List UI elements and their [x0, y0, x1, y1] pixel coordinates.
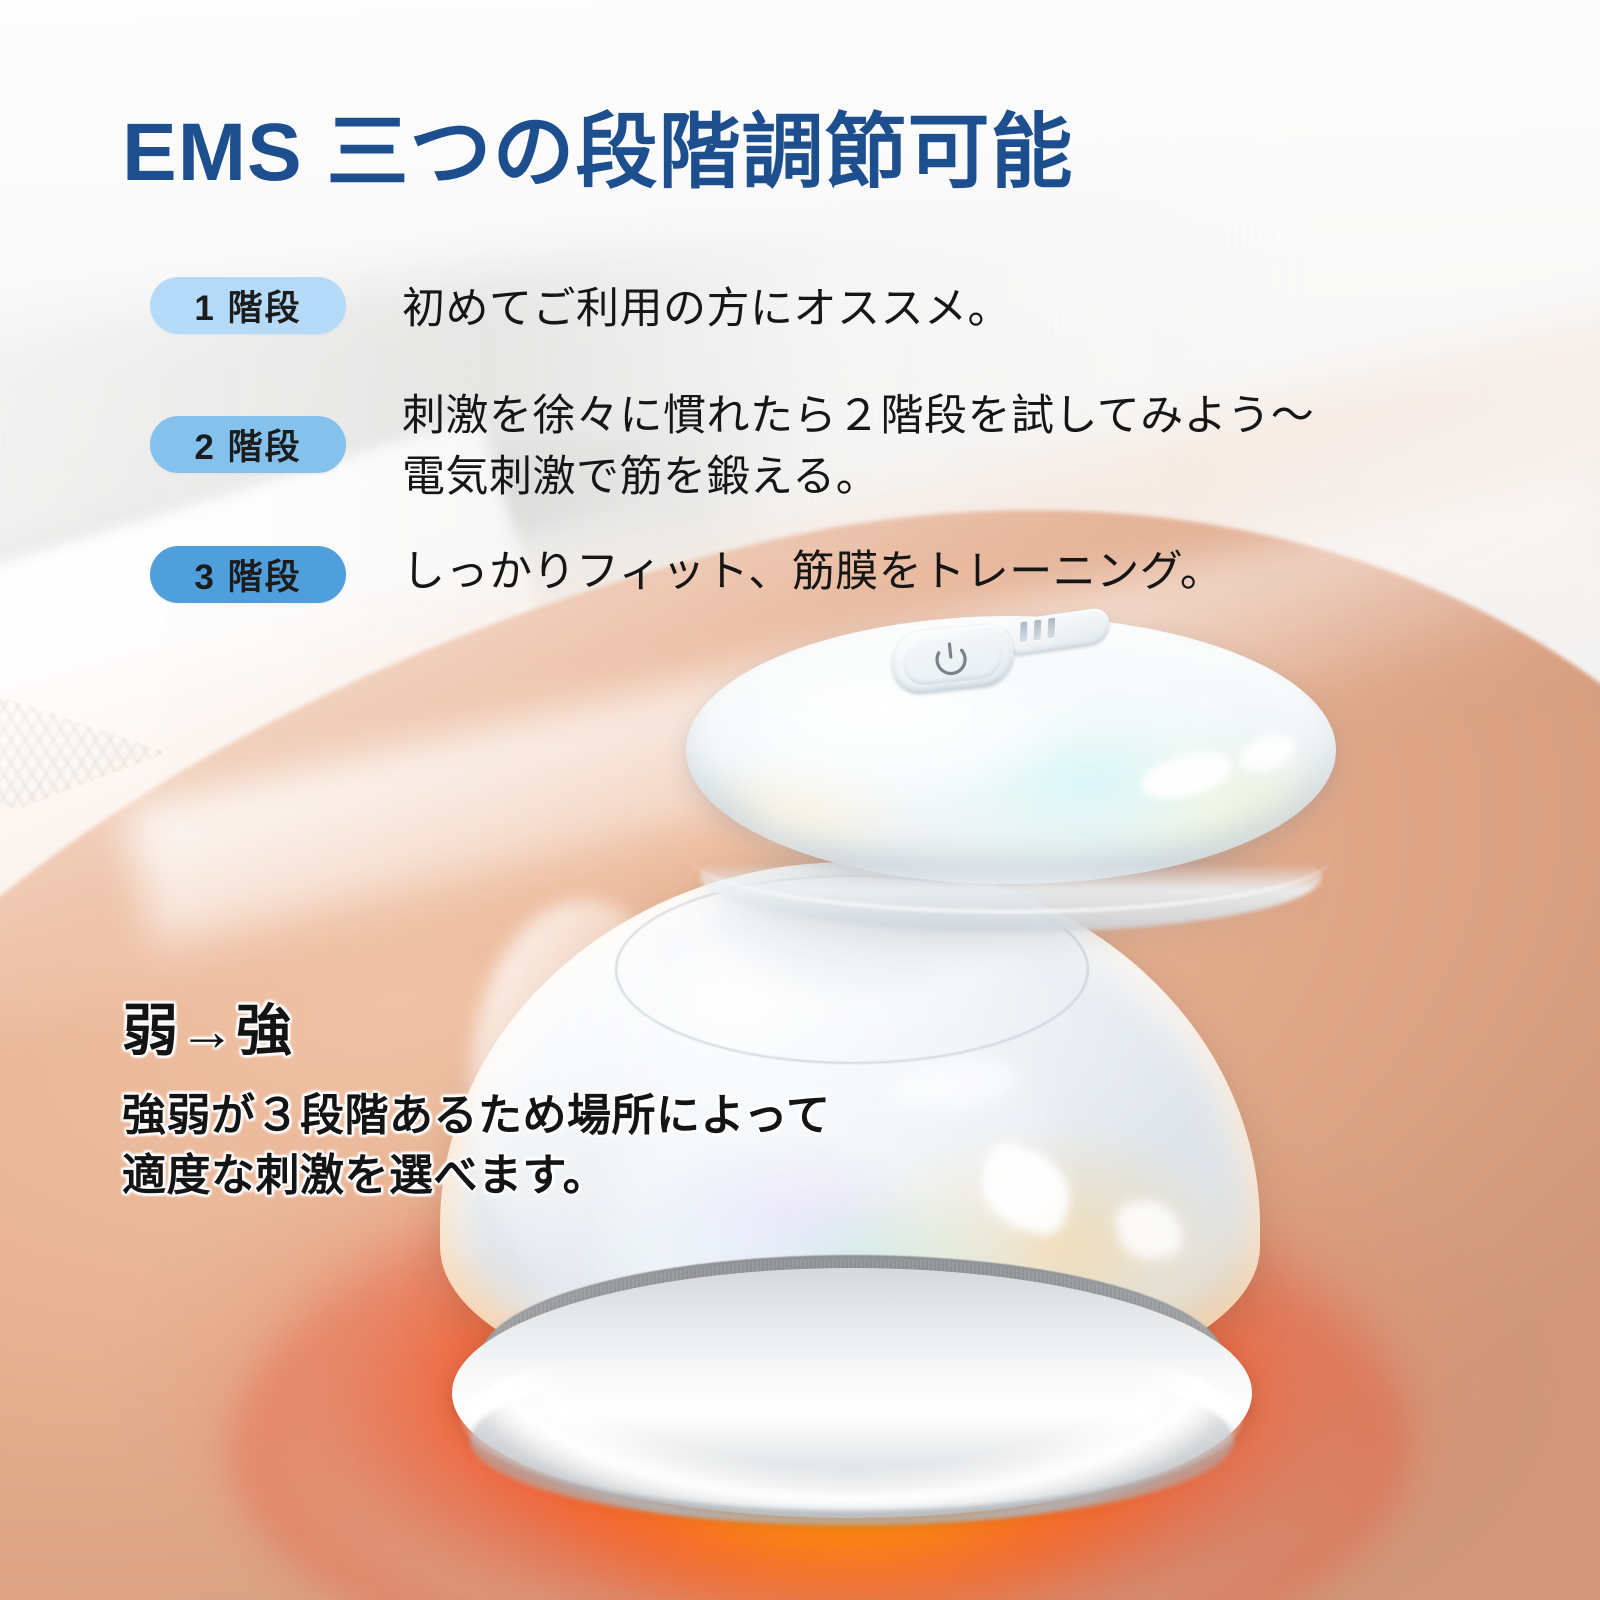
level-list: 1 階段 初めてご利用の方にオススメ。 2 階段 刺激を徐々に慣れたら２階段を試…: [150, 277, 1470, 603]
level-bar-2: [1034, 619, 1042, 640]
dome-rim-highlight-line: [690, 800, 1332, 913]
level-badge-2[interactable]: 2 階段: [150, 416, 346, 473]
level-description-2: 刺激を徐々に慣れたら２階段を試してみよう～ 電気刺激で筋を鍛える。: [402, 386, 1314, 508]
device-base-rim-highlight: [462, 1330, 1242, 1510]
level-description-1-line-1: 初めてご利用の方にオススメ。: [402, 279, 1011, 340]
power-icon: [928, 638, 974, 680]
intensity-body-line-2: 適度な刺激を選べます。: [122, 1146, 830, 1207]
intensity-heading: 弱→強: [122, 1000, 830, 1062]
intensity-caption: 弱→強 強弱が３段階あるため場所によって 適度な刺激を選べます。: [122, 1000, 830, 1207]
level-description-2-line-2: 電気刺激で筋を鍛える。: [402, 447, 1314, 508]
product-infographic: EMS 三つの段階調節可能 1 階段 初めてご利用の方にオススメ。 2 階段 刺…: [0, 0, 1600, 1600]
level-description-2-line-1: 刺激を徐々に慣れたら２階段を試してみよう～: [402, 386, 1314, 447]
level-row: 2 階段 刺激を徐々に慣れたら２階段を試してみよう～ 電気刺激で筋を鍛える。: [150, 386, 1470, 508]
level-row: 3 階段 しっかりフィット、筋膜をトレーニング。: [150, 542, 1470, 603]
level-description-3: しっかりフィット、筋膜をトレーニング。: [402, 542, 1223, 603]
level-bar-1: [1020, 621, 1028, 642]
page-title: EMS 三つの段階調節可能: [122, 112, 1073, 194]
intensity-body-line-1: 強弱が３段階あるため場所によって: [122, 1086, 830, 1147]
level-row: 1 階段 初めてご利用の方にオススメ。: [150, 277, 1470, 340]
intensity-body: 強弱が３段階あるため場所によって 適度な刺激を選べます。: [122, 1086, 830, 1207]
level-description-3-line-1: しっかりフィット、筋膜をトレーニング。: [402, 542, 1223, 603]
level-badge-3[interactable]: 3 階段: [150, 546, 346, 603]
level-description-1: 初めてご利用の方にオススメ。: [402, 279, 1011, 340]
ems-cupping-device: [0, 0, 1600, 1600]
level-bar-3: [1048, 617, 1056, 638]
level-badge-1[interactable]: 1 階段: [150, 277, 346, 334]
